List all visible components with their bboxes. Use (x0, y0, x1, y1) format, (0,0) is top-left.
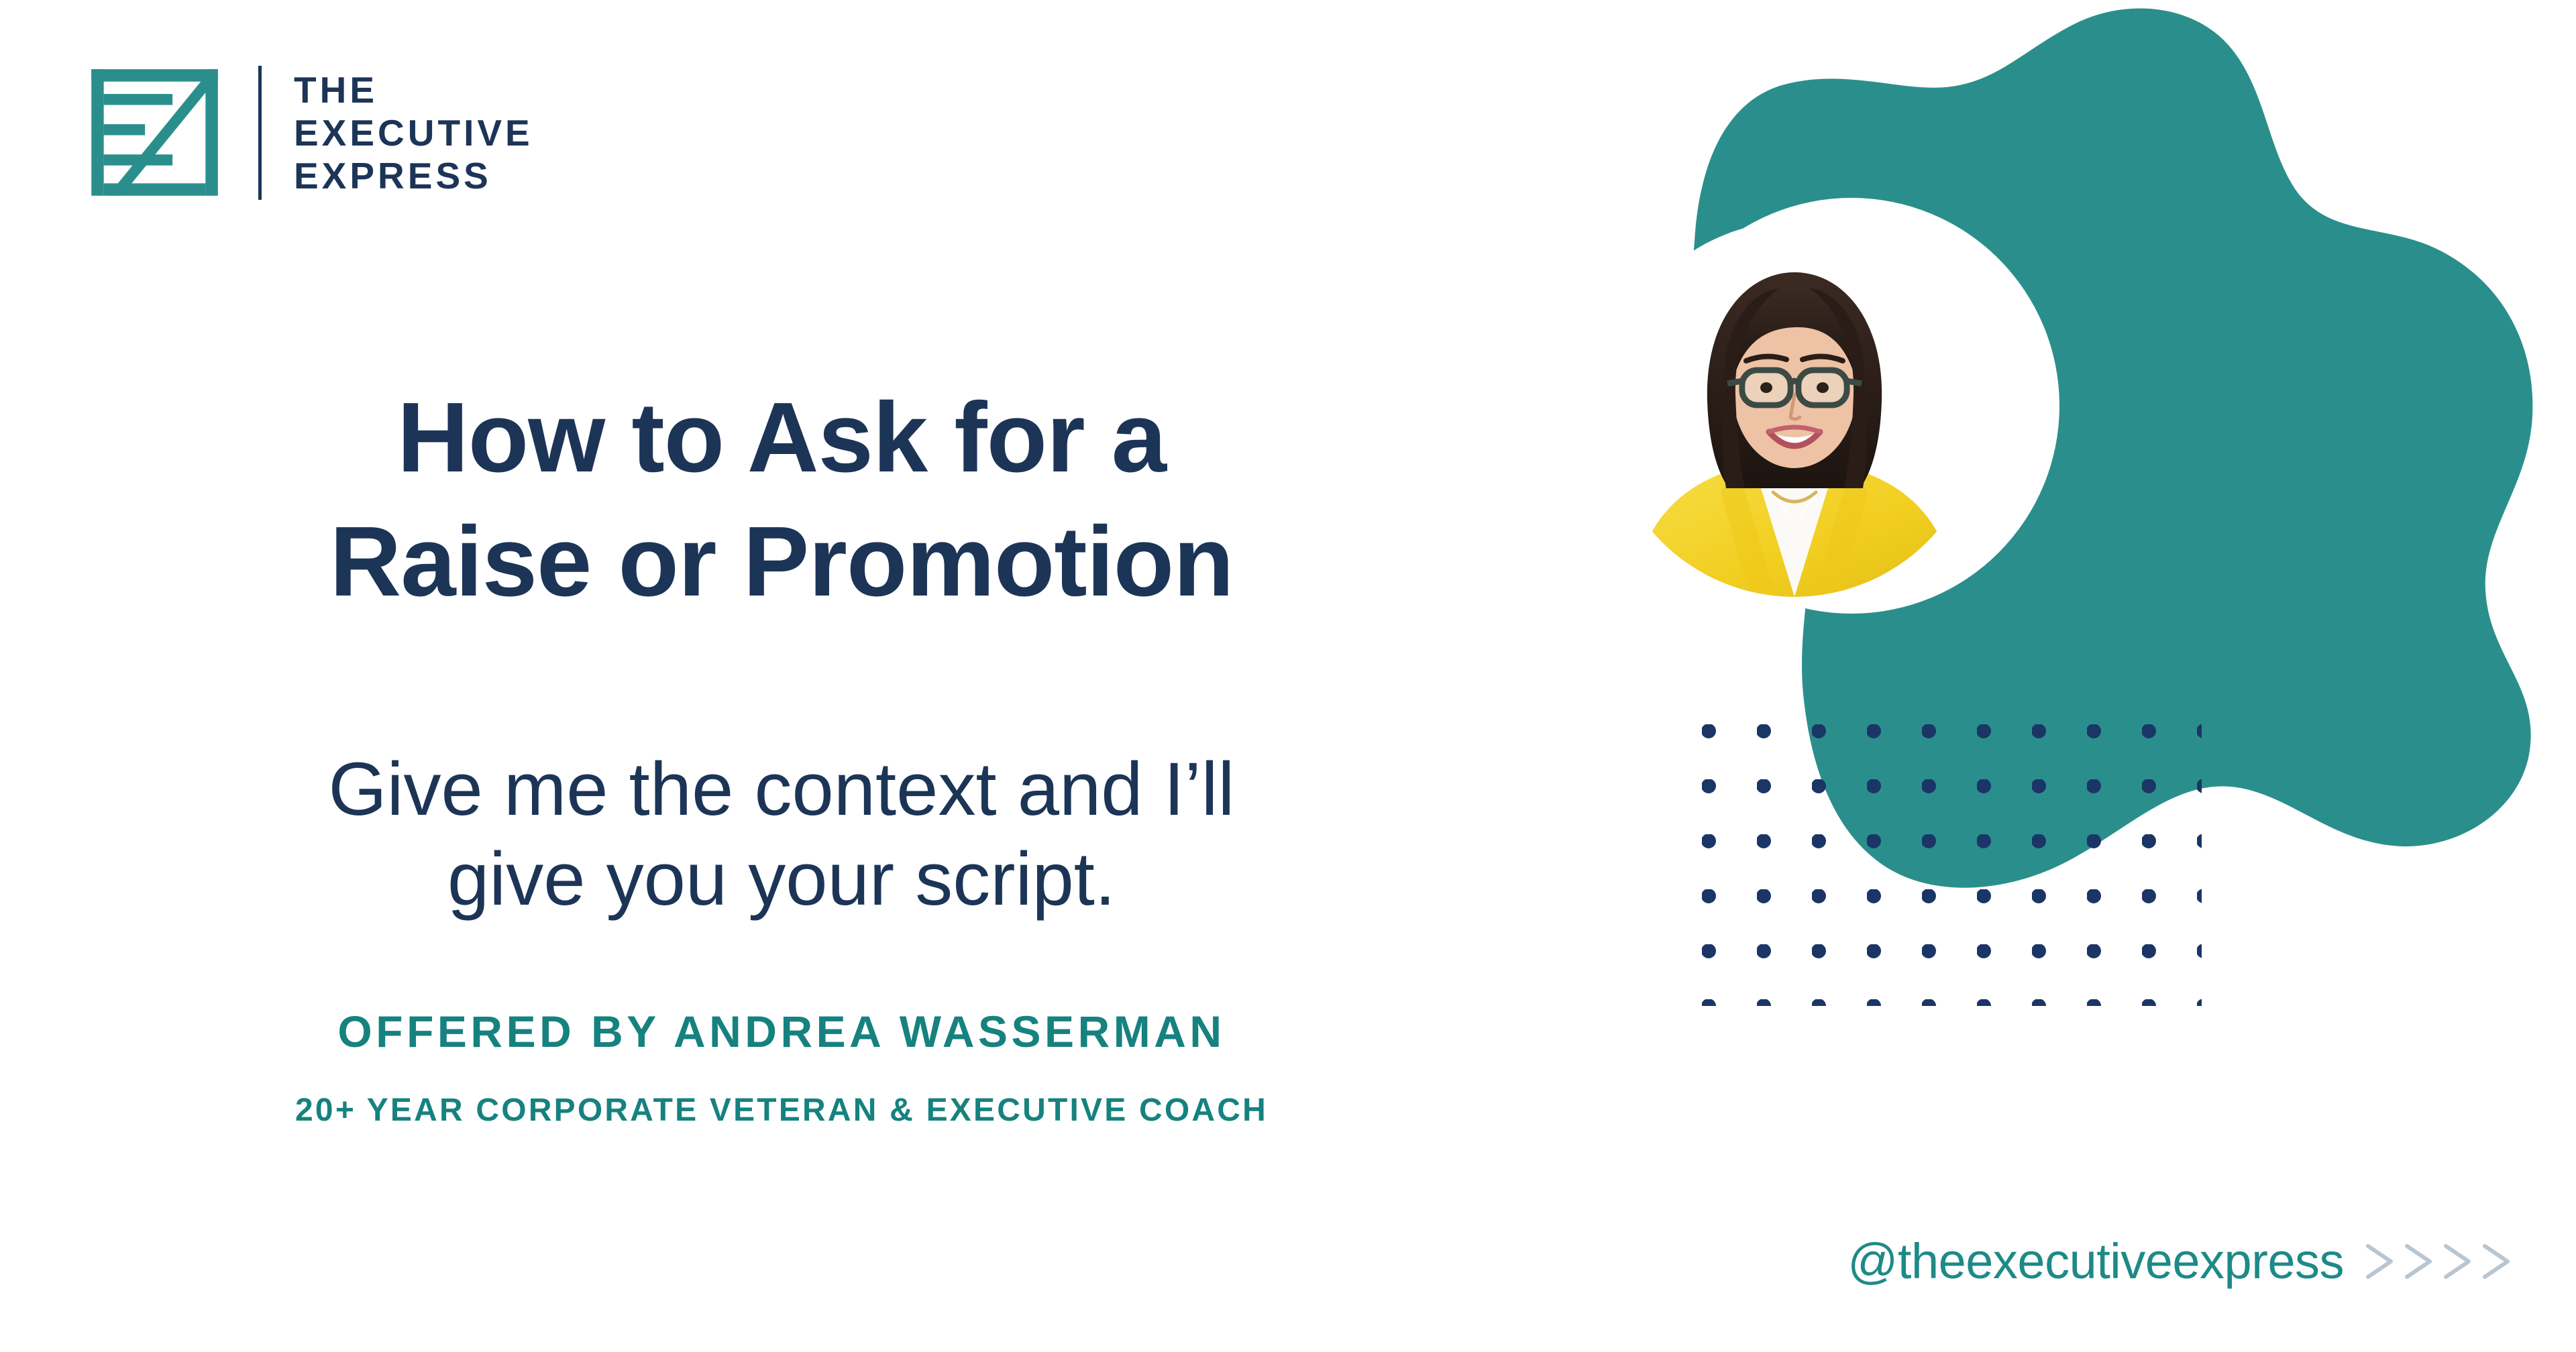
ea-monogram-icon (86, 64, 223, 201)
offered-by-line: OFFERED BY ANDREA WASSERMAN (0, 1006, 1563, 1057)
social-handle[interactable]: @theexecutiveexpress (1847, 1233, 2529, 1290)
headline-line-1: How to Ask for a (0, 376, 1563, 500)
brand-logo[interactable]: THE EXECUTIVE EXPRESS (86, 64, 533, 201)
subhead-line-2: give you your script. (0, 834, 1563, 924)
navy-dot-grid-pattern (1692, 718, 2202, 1006)
page-title: How to Ask for a Raise or Promotion (0, 376, 1563, 624)
subhead-line-1: Give me the context and I’ll (0, 744, 1563, 834)
chevron-right-icon (2361, 1233, 2529, 1290)
logo-divider (258, 66, 262, 200)
headline-line-2: Raise or Promotion (0, 500, 1563, 624)
page-subtitle: Give me the context and I’ll give you yo… (0, 744, 1563, 924)
credentials-line: 20+ YEAR CORPORATE VETERAN & EXECUTIVE C… (0, 1092, 1563, 1129)
logo-line-3: EXPRESS (294, 154, 533, 197)
avatar (1607, 221, 1982, 597)
logo-line-1: THE (294, 68, 533, 111)
promo-graphic-canvas: THE EXECUTIVE EXPRESS How to Ask for a R… (0, 0, 2576, 1352)
logo-wordmark: THE EXECUTIVE EXPRESS (294, 68, 533, 197)
logo-line-2: EXECUTIVE (294, 111, 533, 154)
social-handle-text: @theexecutiveexpress (1847, 1233, 2344, 1290)
